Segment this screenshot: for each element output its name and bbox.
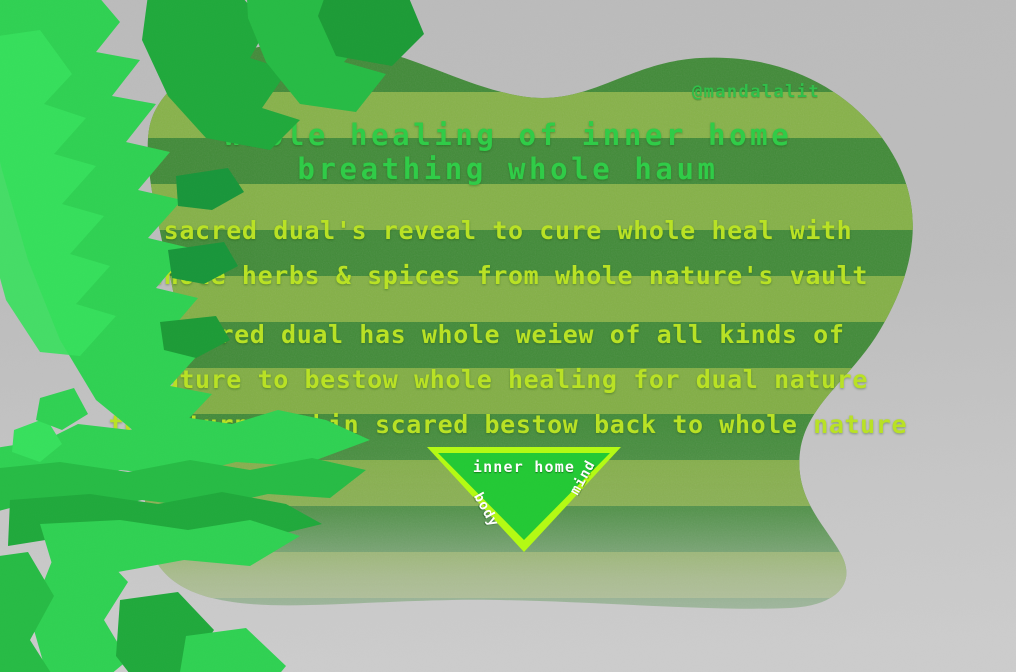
leaf-cluster — [0, 0, 1016, 672]
poster-canvas: @mandalalit whole healing of inner home … — [0, 0, 1016, 672]
